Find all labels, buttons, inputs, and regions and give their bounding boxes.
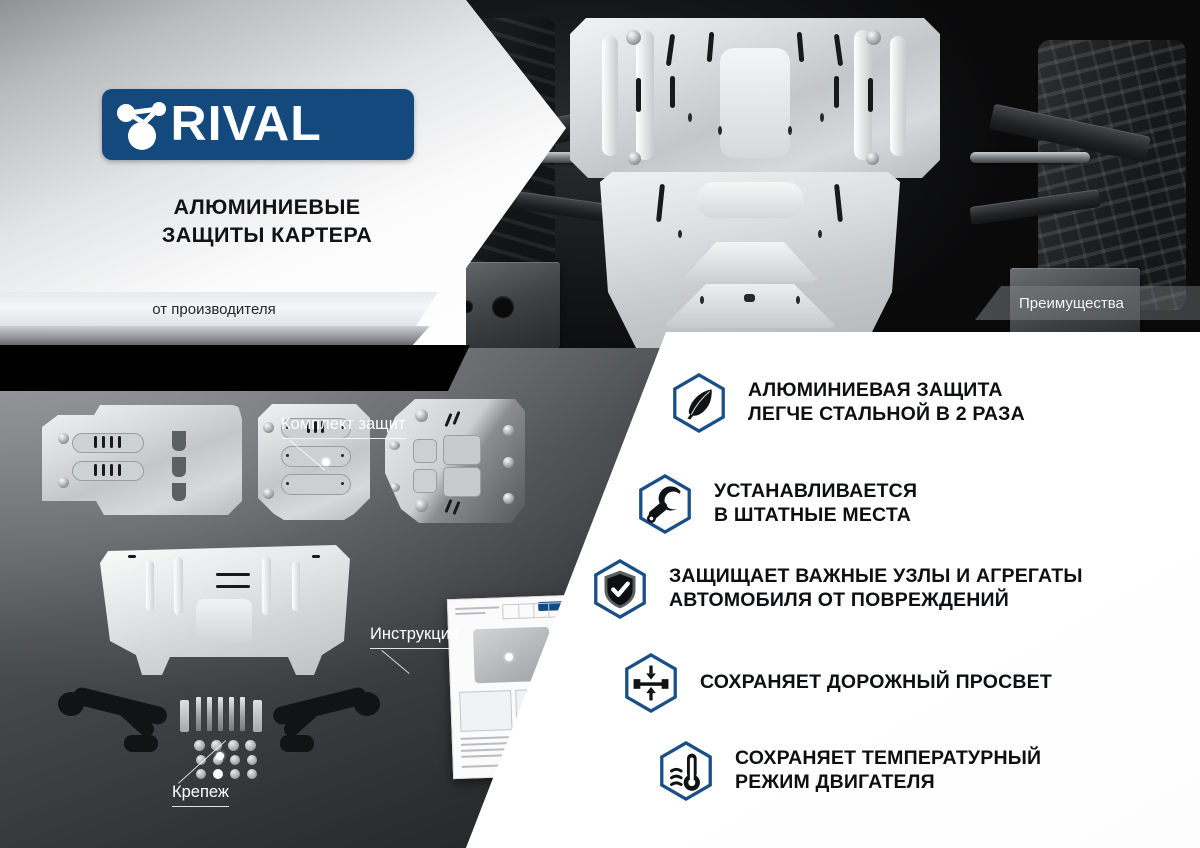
skid-plate-bottom xyxy=(100,545,350,683)
bracket-foot-left xyxy=(124,735,158,752)
subtitle-band-shadow xyxy=(0,326,452,348)
poster-root: RIVAL АЛЮМИНИЕВЫЕ ЗАЩИТЫ КАРТЕРА от прои… xyxy=(0,0,1200,848)
feather-icon xyxy=(668,372,730,434)
skid-plate-right xyxy=(385,399,525,523)
callout-manual-dot xyxy=(505,653,513,661)
feature-label: СОХРАНЯЕТ ДОРОЖНЫЙ ПРОСВЕТ xyxy=(700,671,1052,695)
feature-label: ЗАЩИЩАЕТ ВАЖНЫЕ УЗЛЫ И АГРЕГАТЫ АВТОМОБИ… xyxy=(669,565,1083,613)
molecule-icon xyxy=(112,96,174,154)
underbody-skid-lower xyxy=(600,172,900,348)
callout-hardware: Крепеж xyxy=(172,784,229,807)
feature-label: АЛЮМИНИЕВАЯ ЗАЩИТА ЛЕГЧЕ СТАЛЬНОЙ В 2 РА… xyxy=(748,379,1025,427)
subtitle-text: от производителя xyxy=(152,302,275,317)
callout-manual: Инструкция xyxy=(370,626,459,649)
underbody-skid-upper xyxy=(570,18,940,178)
bracket-eye-right xyxy=(354,692,380,716)
advantages-label: Преимущества xyxy=(1019,296,1124,311)
callout-kit: Комплект защит xyxy=(281,416,406,439)
feature-label: УСТАНАВЛИВАЕТСЯ В ШТАТНЫЕ МЕСТА xyxy=(714,480,917,528)
subtitle-band: от производителя xyxy=(0,292,438,326)
feature-item-temperature: СОХРАНЯЕТ ТЕМПЕРАТУРНЫЙ РЕЖИМ ДВИГАТЕЛЯ xyxy=(655,740,1041,802)
bracket-foot-right xyxy=(280,735,314,752)
bracket-eye-left xyxy=(58,692,84,716)
advantages-badge: Преимущества xyxy=(975,286,1200,320)
rival-wordmark: RIVAL xyxy=(171,100,322,149)
feature-label: СОХРАНЯЕТ ТЕМПЕРАТУРНЫЙ РЕЖИМ ДВИГАТЕЛЯ xyxy=(735,747,1041,795)
callout-hardware-dot xyxy=(216,752,224,760)
feature-item-protection: ЗАЩИЩАЕТ ВАЖНЫЕ УЗЛЫ И АГРЕГАТЫ АВТОМОБИ… xyxy=(589,558,1083,620)
wrench-icon xyxy=(634,473,696,535)
page-title: АЛЮМИНИЕВЫЕ ЗАЩИТЫ КАРТЕРА xyxy=(102,193,432,250)
ground-clearance-icon xyxy=(620,652,682,714)
feature-item-fitment: УСТАНАВЛИВАЕТСЯ В ШТАТНЫЕ МЕСТА xyxy=(634,473,917,535)
thermometer-icon xyxy=(655,740,717,802)
skid-plate-left xyxy=(42,405,242,515)
header-black-strip xyxy=(0,345,470,391)
feature-item-weight: АЛЮМИНИЕВАЯ ЗАЩИТА ЛЕГЧЕ СТАЛЬНОЙ В 2 РА… xyxy=(668,372,1025,434)
rival-logo: RIVAL xyxy=(102,89,414,160)
shield-check-icon xyxy=(589,558,651,620)
callout-kit-dot xyxy=(322,458,330,466)
feature-item-clearance: СОХРАНЯЕТ ДОРОЖНЫЙ ПРОСВЕТ xyxy=(620,652,1052,714)
